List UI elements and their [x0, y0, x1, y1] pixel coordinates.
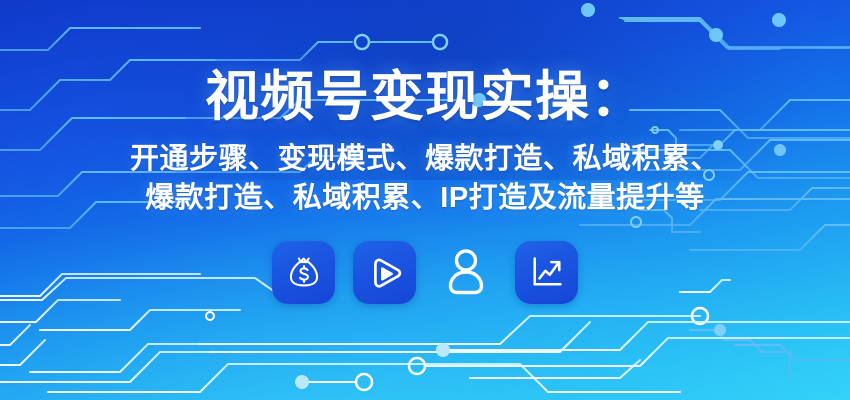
banner-content: 视频号变现实操： 开通步骤、变现模式、爆款打造、私域积累、 爆款打造、私域积累、… [0, 0, 850, 400]
feature-icon-row [272, 241, 578, 304]
growth-chart-icon-tile[interactable] [515, 241, 578, 304]
money-bag-icon [285, 253, 323, 291]
video-play-icon-tile[interactable] [353, 241, 416, 304]
promo-banner: 视频号变现实操： 开通步骤、变现模式、爆款打造、私域积累、 爆款打造、私域积累、… [0, 0, 850, 400]
video-play-icon [365, 252, 405, 292]
subtitle-block: 开通步骤、变现模式、爆款打造、私域积累、 爆款打造、私域积累、IP打造及流量提升… [130, 140, 720, 217]
subtitle-line-1: 开通步骤、变现模式、爆款打造、私域积累、 [130, 140, 720, 178]
page-title: 视频号变现实操： [205, 68, 645, 126]
user-person-icon [442, 247, 490, 297]
subtitle-line-2: 爆款打造、私域积累、IP打造及流量提升等 [130, 179, 720, 217]
user-person-icon-tile[interactable] [434, 241, 497, 304]
money-bag-icon-tile[interactable] [272, 241, 335, 304]
growth-chart-icon [528, 253, 566, 291]
